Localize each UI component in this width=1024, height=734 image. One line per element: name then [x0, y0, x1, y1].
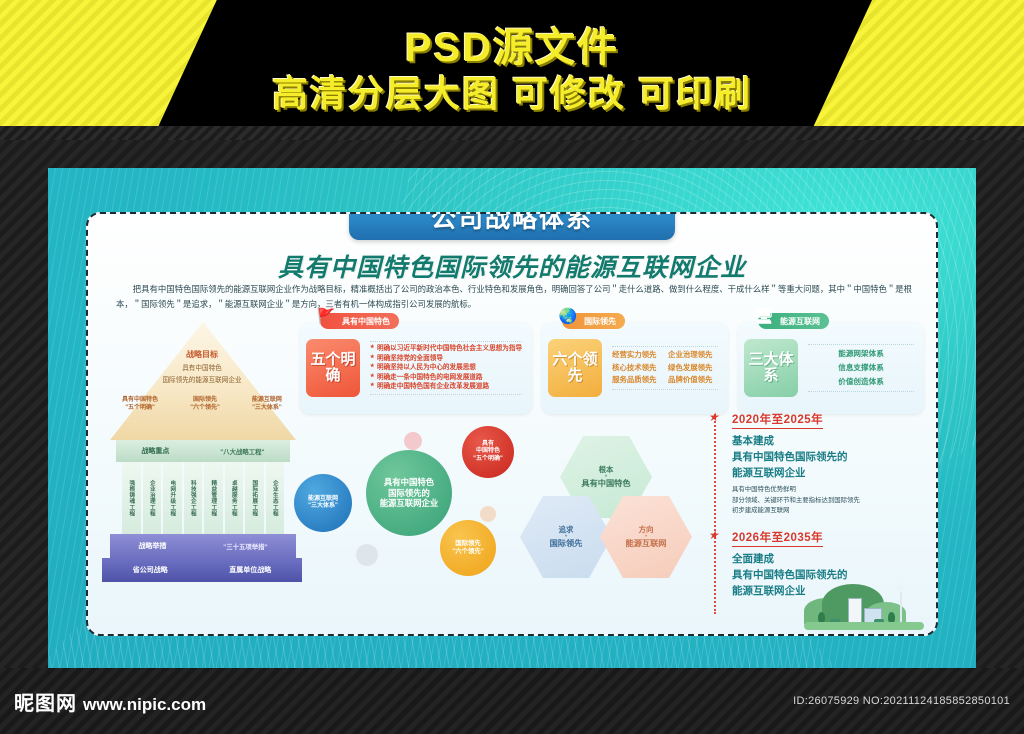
hexagon-puzzle-diagram: 根本 ▾ 具有中国特色 追求 ▾ 国际领先 方向 ▾ 能源互联网 [520, 436, 692, 596]
poster-artwork: 公司战略体系 具有中国特色国际领先的能源互联网企业 把具有中国特色国际领先的能源… [48, 168, 976, 668]
circle-line-1: 能源互联网 [308, 496, 338, 502]
timeline-heading-line-1: 基本建成 [732, 435, 774, 447]
poster-title-ribbon: 公司战略体系 [349, 212, 675, 240]
flag-icon: 🚩 [314, 305, 338, 327]
decor-dot-pink [404, 432, 422, 450]
chevron-down-icon: ▾ [605, 475, 607, 477]
cube-six-leadings: 六个领先 [548, 339, 602, 397]
project-column: 精益管理工程 [204, 462, 223, 534]
turbine-blade-icon: ✳ [894, 580, 905, 596]
card-badge-label: 具有中国特色 [342, 316, 390, 327]
detail-line: 具有中国特色优势鲜明 [732, 485, 922, 496]
circle-core-goal: 具有中国特色 国际领先的 能源互联网企业 [366, 450, 452, 536]
hexagon-value: 国际领先 [550, 538, 583, 550]
card-list-china-feature: 明确以习近平新时代中国特色社会主义思想为指导 明确坚持党的全面领导 明确坚持以人… [366, 337, 524, 399]
pyramid-pillar-label: 具有中国特色 "五个明确" [122, 396, 158, 413]
timeline-stage-1: 2020年至2025年 基本建成 具有中国特色国际领先的 能源互联网企业 具有中… [732, 410, 922, 517]
decor-dot-peach [480, 506, 496, 522]
pillar-line-1: 能源互联网 [252, 397, 282, 403]
list-item: 明确坚持以人民为中心的发展思想 [370, 363, 522, 373]
pyramid-goal-line-1: 具有中国特色 [102, 364, 302, 374]
circle-line-3: 能源互联网企业 [380, 498, 439, 508]
project-column: 卓越服务工程 [225, 462, 244, 534]
list-item: 能源网架体系 [808, 347, 914, 361]
globe-icon: 🌏 [556, 305, 580, 327]
circle-line-2: "三大体系" [308, 503, 338, 509]
divider-top [370, 341, 522, 342]
ribbon-dot-icon [656, 212, 661, 215]
project-column: 企业治理工程 [143, 462, 162, 534]
monitor-icon: 🖥 [752, 305, 776, 327]
pillar-line-2: "五个明确" [125, 405, 155, 411]
divider-top [808, 344, 914, 345]
circle-line-1: 具有 [482, 441, 494, 447]
detail-line: 初步建成能源互联网 [732, 506, 922, 517]
building-icon [848, 598, 862, 624]
star-icon: ★ [708, 528, 719, 542]
circle-line-2: 中国特色 [476, 448, 500, 454]
promo-line-1: PSD源文件 [405, 26, 619, 70]
circle-china-feature: 具有 中国特色 "五个明确" [462, 426, 514, 478]
card-intl-leading: 🌏 国际领先 六个领先 经营实力领先 企业治理领先 核心技术领先 绿色发展领先 … [542, 322, 728, 414]
list-item: 核心技术领先 [612, 362, 662, 375]
cube-five-clarifications: 五个明确 [306, 339, 360, 397]
pyramid-pillar-label: 能源互联网 "三大体系" [252, 396, 282, 413]
timeline-details: 具有中国特色优势鲜明 部分领域、关键环节和主要指标达到国际领先 初步建成能源互联… [732, 485, 922, 517]
pyramid-focus-label: 战略重点 [141, 446, 169, 456]
pillar-line-2: "三大体系" [252, 405, 282, 411]
timeline-heading-line-1: 全面建成 [732, 553, 774, 565]
brand-url: www.nipic.com [83, 695, 206, 715]
wind-turbine-icon [900, 592, 902, 622]
decor-dot-grey [356, 544, 378, 566]
city-scenery-illustration: ✳ [804, 580, 924, 632]
circle-intl-leading: 国际领先 "六个领先" [440, 520, 496, 576]
timeline-heading-line-3: 能源互联网企业 [732, 467, 806, 479]
list-item: 绿色发展领先 [668, 362, 718, 375]
timeline-year: 2020年至2025年 [732, 411, 823, 429]
card-badge-label: 国际领先 [584, 316, 616, 327]
chevron-down-icon: ▾ [565, 535, 567, 537]
pyramid-base-slab: 省公司战略 直属单位战略 [102, 558, 302, 582]
card-badge-energy-internet: 🖥 能源互联网 [758, 313, 829, 329]
site-brand: 昵图网 www.nipic.com [14, 687, 206, 716]
divider-top [612, 346, 718, 347]
pillar-line-1: 国际领先 [193, 397, 217, 403]
pillar-line-2: "六个领先" [190, 405, 220, 411]
promo-line-2: 高清分层大图 可修改 可印刷 [272, 74, 752, 114]
list-item: 明确走中国特色国有企业改革发展道路 [370, 382, 522, 392]
promo-banner: PSD源文件 高清分层大图 可修改 可印刷 [0, 0, 1024, 140]
pyramid-measures-slab: 战略举措 "三十五项举措" [110, 534, 296, 558]
list-item: 品牌价值领先 [668, 374, 718, 387]
circle-energy-internet: 能源互联网 "三大体系" [294, 474, 352, 532]
hexagon-value: 具有中国特色 [581, 478, 630, 490]
list-item: 服务品质领先 [612, 374, 662, 387]
timeline-heading-line-2: 具有中国特色国际领先的 [732, 451, 848, 463]
pyramid-base-left: 省公司战略 [133, 565, 168, 575]
poster-inner-board: 公司战略体系 具有中国特色国际领先的能源互联网企业 把具有中国特色国际领先的能源… [86, 212, 938, 636]
circle-line-1: 国际领先 [455, 540, 481, 547]
list-item: 信息支撑体系 [808, 361, 914, 375]
project-column: 国际拓展工程 [245, 462, 264, 534]
pyramid-base-right: 直属单位战略 [229, 565, 271, 575]
pyramid-eight-projects: 强根铸魂工程 企业治理工程 电网升级工程 科技强企工程 精益管理工程 卓越服务工… [122, 462, 284, 534]
project-column: 企业生态工程 [266, 462, 285, 534]
strategy-cards-row: 🚩 具有中国特色 五个明确 明确以习近平新时代中国特色社会主义思想为指导 明确坚… [300, 322, 924, 414]
pyramid-three-pillars-labels: 具有中国特色 "五个明确" 国际领先 "六个领先" 能源互联网 "三大体系" [102, 396, 302, 413]
card-badge-intl-leading: 🌏 国际领先 [562, 313, 625, 329]
divider-bottom [612, 389, 718, 390]
project-column: 电网升级工程 [163, 462, 182, 534]
pyramid-pillar-label: 国际领先 "六个领先" [190, 396, 220, 413]
circle-line-2: 国际领先的 [388, 488, 430, 498]
card-list-energy-internet: 能源网架体系 信息支撑体系 价值创造体系 [804, 340, 916, 396]
cube-three-systems: 三大体系 [744, 339, 798, 397]
pyramid-goal-block: 战略目标 具有中国特色 国际领先的能源互联网企业 [102, 344, 302, 386]
circle-line-1: 具有中国特色 [384, 477, 434, 487]
chevron-down-icon: ▾ [645, 535, 647, 537]
hexagon-value: 能源互联网 [626, 538, 667, 550]
promo-bottom-stripe [0, 126, 1024, 140]
promo-banner-text: PSD源文件 高清分层大图 可修改 可印刷 [0, 0, 1024, 140]
pyramid-focus-slab: 战略重点 "八大战略工程" [116, 440, 290, 462]
poster-body-paragraph: 把具有中国特色国际领先的能源互联网企业作为战略目标，精准概括出了公司的政治本色、… [116, 282, 912, 311]
pyramid-goal-line-2: 国际领先的能源互联网企业 [102, 376, 302, 386]
card-china-feature: 🚩 具有中国特色 五个明确 明确以习近平新时代中国特色社会主义思想为指导 明确坚… [300, 322, 532, 414]
poster-subtitle: 具有中国特色国际领先的能源互联网企业 [88, 248, 936, 284]
pillar-line-1: 具有中国特色 [122, 397, 158, 403]
pyramid-measure-value: "三十五项举措" [223, 542, 267, 551]
card-badge-china-feature: 🚩 具有中国特色 [320, 313, 399, 329]
poster-title: 公司战略体系 [431, 212, 593, 235]
list-item: 明确走一条中国特色的电网发展道路 [370, 373, 522, 383]
list-item: 明确坚持党的全面领导 [370, 354, 522, 364]
timeline-rail [714, 414, 716, 614]
divider-bottom [808, 391, 914, 392]
star-icon: ★ [708, 410, 719, 424]
asset-id-meta: ID:26075929 NO:20211124185852850101 [793, 695, 1010, 707]
card-list-intl-leading: 经营实力领先 企业治理领先 核心技术领先 绿色发展领先 服务品质领先 品牌价值领… [608, 342, 720, 395]
list-item: 明确以习近平新时代中国特色社会主义思想为指导 [370, 344, 522, 354]
project-column: 科技强企工程 [184, 462, 203, 534]
circles-diagram: 能源互联网 "三大体系" 具有中国特色 国际领先的 能源互联网企业 具有 中国特… [294, 424, 544, 604]
list-item: 价值创造体系 [808, 375, 914, 389]
divider-bottom [370, 394, 522, 395]
project-column: 强根铸魂工程 [122, 462, 141, 534]
ground-strip [804, 622, 924, 630]
list-item: 企业治理领先 [668, 349, 718, 362]
list-item: 经营实力领先 [612, 349, 662, 362]
timeline-heading-line-2: 具有中国特色国际领先的 [732, 569, 848, 581]
screenshot-root: PSD源文件 高清分层大图 可修改 可印刷 公司战略体系 具有中国特色国际领先的… [0, 0, 1024, 734]
brand-name-cn: 昵图网 [14, 687, 77, 716]
circle-line-2: "六个领先" [452, 548, 484, 555]
pyramid-goal-label: 战略目标 [186, 350, 218, 359]
timeline-year: 2026年至2035年 [732, 529, 823, 547]
pyramid-measure-label: 战略举措 [138, 541, 166, 551]
strategy-pyramid: 战略目标 具有中国特色 国际领先的能源互联网企业 具有中国特色 "五个明确" 国… [102, 322, 302, 622]
timeline-heading-line-3: 能源互联网企业 [732, 585, 806, 597]
detail-line: 部分领域、关键环节和主要指标达到国际领先 [732, 496, 922, 507]
card-badge-label: 能源互联网 [780, 316, 820, 327]
circle-line-3: "五个明确" [473, 456, 503, 462]
site-footer: 昵图网 www.nipic.com ID:26075929 NO:2021112… [0, 668, 1024, 734]
card-energy-internet: 🖥 能源互联网 三大体系 能源网架体系 信息支撑体系 价值创造体系 [738, 322, 924, 414]
pyramid-focus-value: "八大战略工程" [220, 447, 264, 456]
timeline-heading: 基本建成 具有中国特色国际领先的 能源互联网企业 [732, 434, 922, 481]
